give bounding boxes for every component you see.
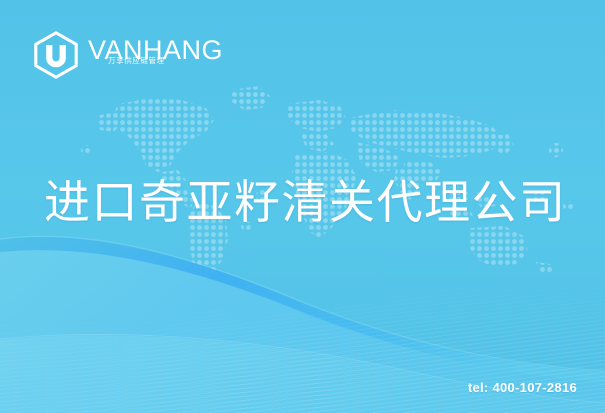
line-stripe-texture-left-icon — [0, 318, 360, 413]
brand-wordmark: VANHANG 万享供应链管理 — [88, 35, 223, 75]
brand-logo[interactable]: VANHANG 万享供应链管理 — [33, 31, 223, 79]
brand-subtitle-text: 万享供应链管理 — [108, 56, 165, 65]
page-title: 进口奇亚籽清关代理公司 — [44, 176, 572, 228]
hexagon-u-logo-icon — [33, 31, 79, 79]
promotional-banner: VANHANG 万享供应链管理 进口奇亚籽清关代理公司 tel: 400-107… — [0, 0, 605, 413]
contact-phone: tel: 400-107-2816 — [468, 380, 577, 395]
